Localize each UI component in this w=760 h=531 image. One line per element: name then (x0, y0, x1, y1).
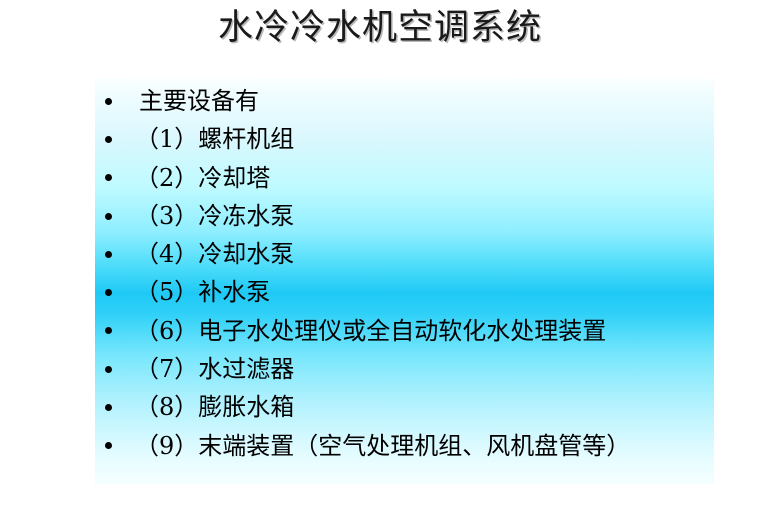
list-item-label: （1）螺杆机组 (135, 120, 294, 158)
bullet-dot-icon (105, 136, 112, 143)
list-item[interactable]: （1）螺杆机组 (95, 120, 714, 158)
list-item-label: （5）补水泵 (135, 273, 270, 311)
list-item[interactable]: （4）冷却水泵 (95, 235, 714, 273)
list-item-label: （7）水过滤器 (135, 350, 294, 388)
list-item[interactable]: （8）膨胀水箱 (95, 388, 714, 426)
list-item-label: （6）电子水处理仪或全自动软化水处理装置 (135, 312, 606, 350)
bullet-dot-icon (105, 98, 112, 105)
bullet-dot-icon (105, 289, 112, 296)
bullet-list: 主要设备有 （1）螺杆机组 （2）冷却塔 （3）冷冻水泵 （4）冷却水泵 （5） (95, 82, 714, 465)
page-title: 水冷冷水机空调系统 (0, 4, 760, 52)
list-item-label: （3）冷冻水泵 (135, 197, 294, 235)
list-item-label: （4）冷却水泵 (135, 235, 294, 273)
bullet-dot-icon (105, 174, 112, 181)
bullet-dot-icon (105, 213, 112, 220)
list-item-label: 主要设备有 (135, 82, 259, 120)
bullet-dot-icon (105, 404, 112, 411)
list-item[interactable]: （6）电子水处理仪或全自动软化水处理装置 (95, 312, 714, 350)
list-item[interactable]: （5）补水泵 (95, 273, 714, 311)
bullet-dot-icon (105, 442, 112, 449)
list-item[interactable]: （3）冷冻水泵 (95, 197, 714, 235)
list-item[interactable]: 主要设备有 (95, 82, 714, 120)
presentation-slide: 水冷冷水机空调系统 主要设备有 （1）螺杆机组 （2）冷却塔 （3）冷冻水泵 (0, 0, 760, 531)
list-item[interactable]: （9）末端装置（空气处理机组、风机盘管等） (95, 427, 714, 465)
bullet-dot-icon (105, 327, 112, 334)
slide-content-box: 主要设备有 （1）螺杆机组 （2）冷却塔 （3）冷冻水泵 （4）冷却水泵 （5） (95, 78, 714, 484)
list-item-label: （2）冷却塔 (135, 159, 270, 197)
list-item[interactable]: （2）冷却塔 (95, 159, 714, 197)
list-item-label: （8）膨胀水箱 (135, 388, 294, 426)
bullet-dot-icon (105, 251, 112, 258)
list-item[interactable]: （7）水过滤器 (95, 350, 714, 388)
bullet-dot-icon (105, 366, 112, 373)
list-item-label: （9）末端装置（空气处理机组、风机盘管等） (135, 427, 630, 465)
